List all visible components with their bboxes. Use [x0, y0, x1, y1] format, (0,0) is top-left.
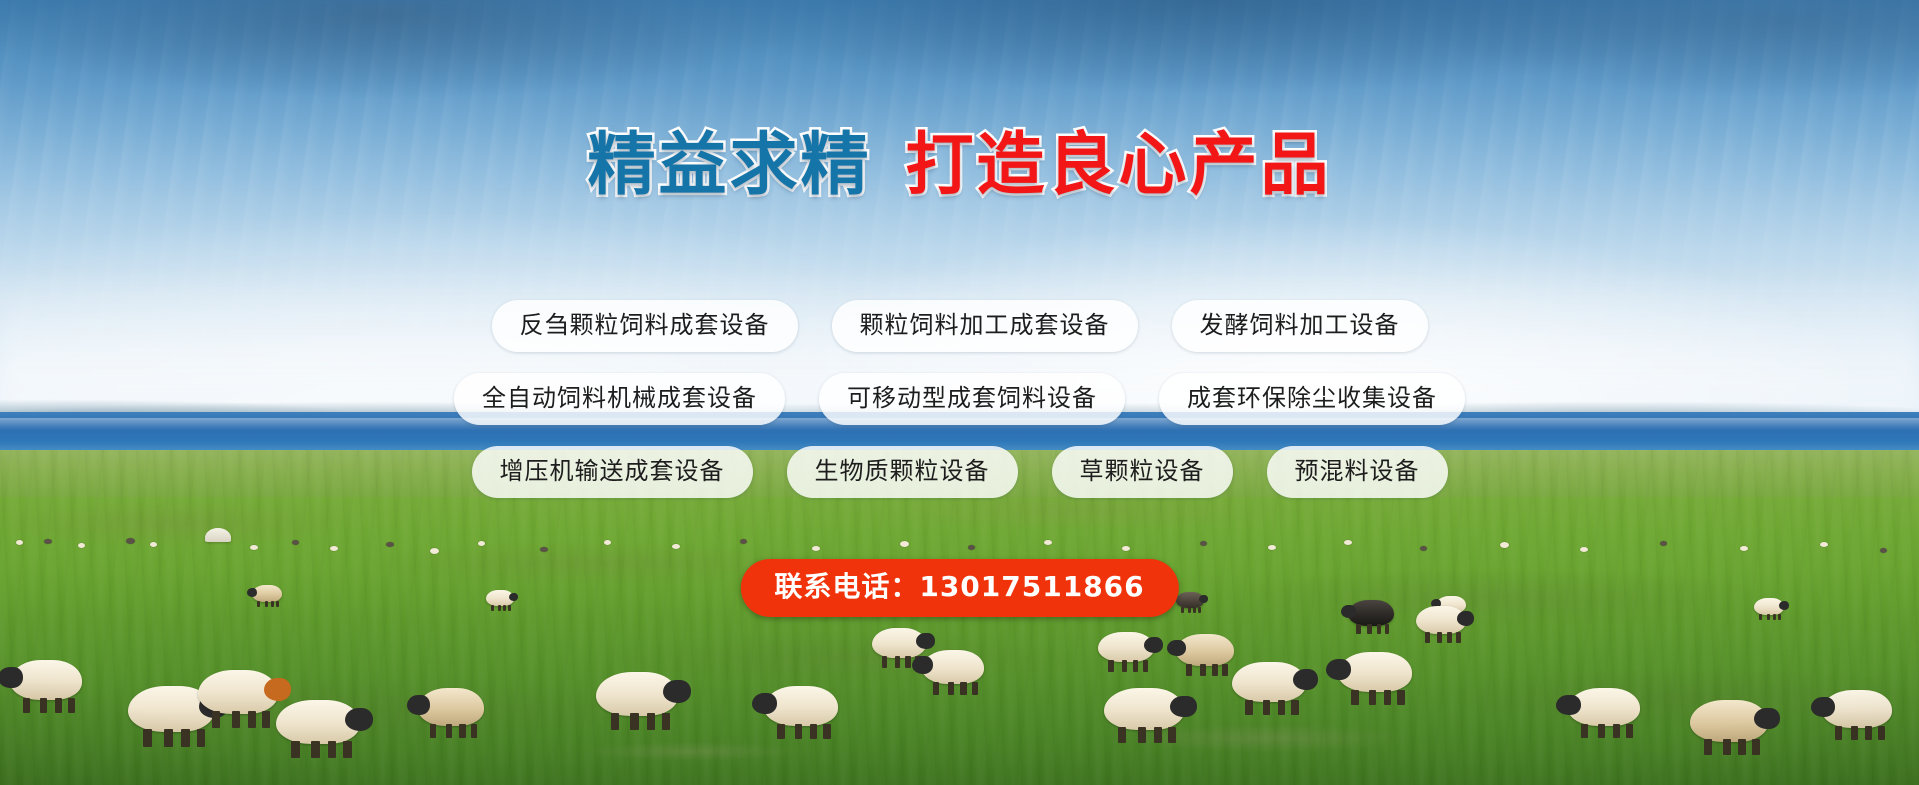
product-pill[interactable]: 发酵饲料加工设备: [1172, 300, 1428, 352]
product-pill[interactable]: 反刍颗粒饲料成套设备: [492, 300, 798, 352]
product-pill[interactable]: 预混料设备: [1267, 446, 1448, 498]
headline-part-2: 打造良心产品: [906, 132, 1332, 200]
product-pill[interactable]: 增压机输送成套设备: [472, 446, 753, 498]
contact-phone-badge[interactable]: 联系电话：13017511866: [740, 559, 1178, 617]
product-pill[interactable]: 可移动型成套饲料设备: [819, 373, 1125, 425]
promo-banner: 精益求精打造良心产品 反刍颗粒饲料成套设备 颗粒饲料加工成套设备 发酵饲料加工设…: [0, 0, 1919, 785]
product-category-list: 反刍颗粒饲料成套设备 颗粒饲料加工成套设备 发酵饲料加工设备 全自动饲料机械成套…: [0, 300, 1919, 498]
product-pill[interactable]: 全自动饲料机械成套设备: [454, 373, 785, 425]
product-pill[interactable]: 成套环保除尘收集设备: [1159, 373, 1465, 425]
banner-headline: 精益求精打造良心产品: [0, 132, 1919, 200]
product-row-3: 增压机输送成套设备 生物质颗粒设备 草颗粒设备 预混料设备: [472, 446, 1448, 498]
product-row-2: 全自动饲料机械成套设备 可移动型成套饲料设备 成套环保除尘收集设备: [454, 373, 1465, 425]
product-pill[interactable]: 生物质颗粒设备: [787, 446, 1018, 498]
headline-part-1: 精益求精: [587, 132, 871, 200]
product-pill[interactable]: 颗粒饲料加工成套设备: [832, 300, 1138, 352]
product-row-1: 反刍颗粒饲料成套设备 颗粒饲料加工成套设备 发酵饲料加工设备: [492, 300, 1428, 352]
product-pill[interactable]: 草颗粒设备: [1052, 446, 1233, 498]
